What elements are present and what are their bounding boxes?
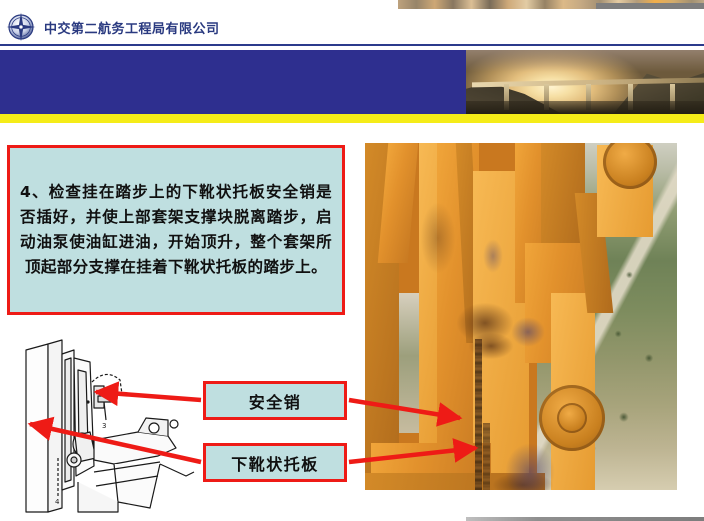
photo-steel-member [419,143,437,490]
slide-header: 中交第二航务工程局有限公司 [0,9,704,45]
callout-label-safety-pin: 安全销 [203,381,347,420]
photo-pulley-hub [557,403,587,433]
header-divider-rule [0,44,704,46]
compass-emblem-icon [6,12,36,42]
technical-diagram: 3 4 [18,336,200,516]
photo-rust-patch [469,333,513,359]
previous-slide-sliver [398,0,704,9]
company-name-text: 中交第二航务工程局有限公司 [44,18,220,37]
bottom-edge-shadow [466,517,704,521]
slide-canvas: 中交第二航务工程局有限公司 4、检查挂在踏步上的下靴状托板安全销是否插好，并使上… [0,0,704,521]
photo-paint-patch [505,443,555,490]
slide-bottom-edge [0,516,704,521]
title-banner [0,50,704,114]
instruction-text-box: 4、检查挂在踏步上的下靴状托板安全销是否插好，并使上部套架支撑块脱离踏步，启动油… [7,145,345,315]
diagram-part-number: 3 [102,422,106,430]
photo-paint-patch [511,317,545,347]
photo-rust-patch [421,203,455,273]
photo-chain [483,423,490,490]
banner-foreground [466,101,704,114]
banner-cloud-band [466,50,704,72]
photo-chain [475,339,482,490]
instruction-text: 4、检查挂在踏步上的下靴状托板安全销是否插好，并使上部套架支撑块脱离踏步，启动油… [10,180,342,280]
diagram-part-number: 4 [55,498,60,506]
construction-photo [365,143,677,490]
yellow-accent-strip [0,114,704,123]
callout-label-support-plate: 下靴状托板 [203,443,347,482]
photo-paint-patch [483,239,503,273]
bridge-sunset-photo [466,50,704,114]
